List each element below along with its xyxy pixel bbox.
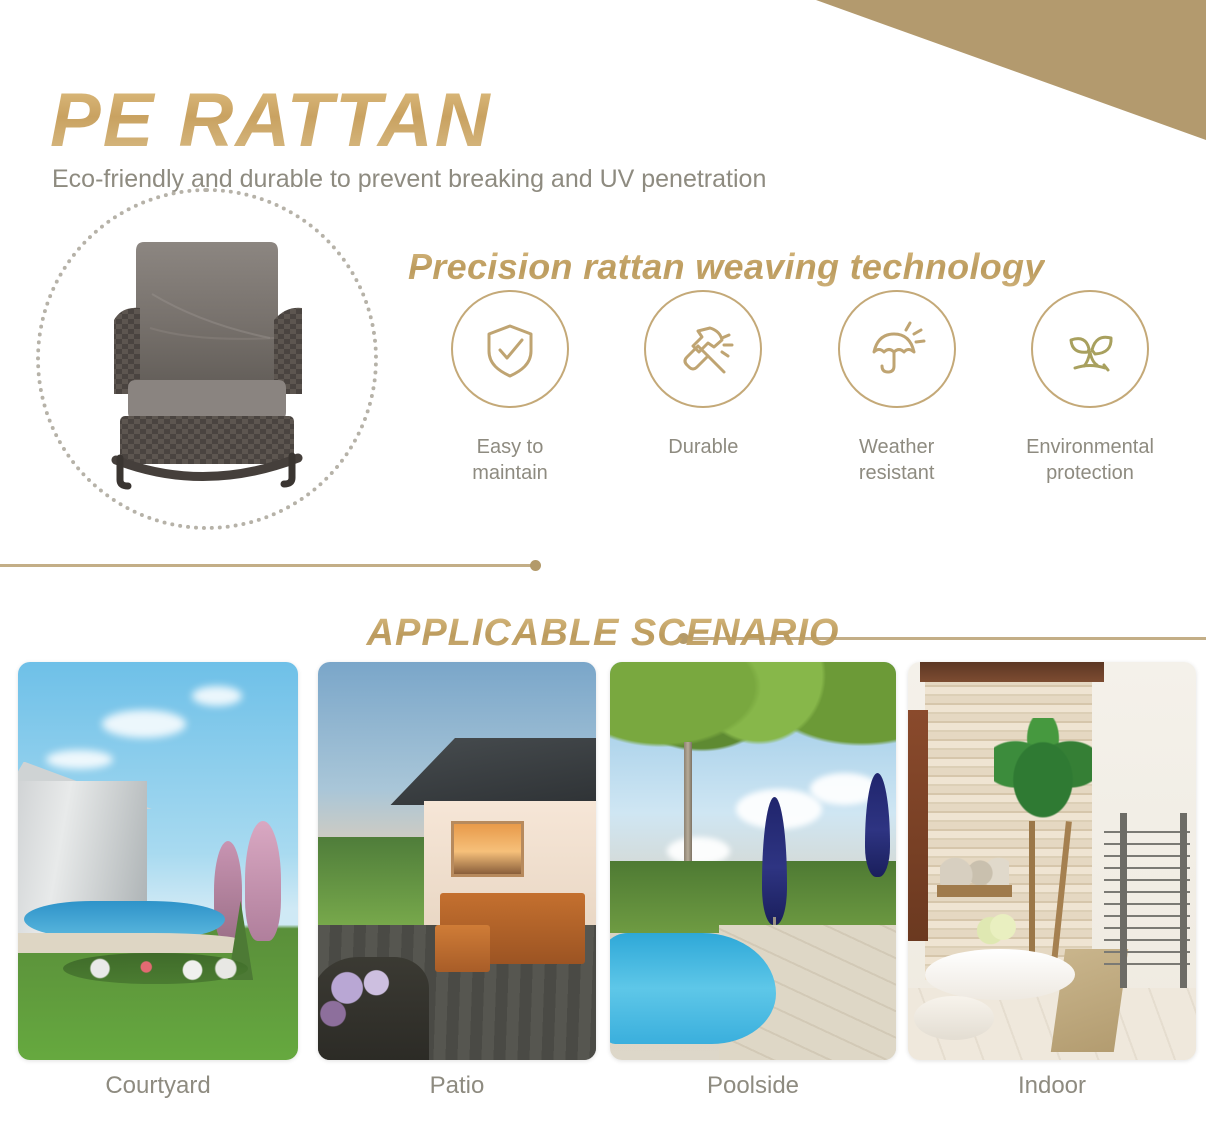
feature-label: Easy to maintain xyxy=(472,434,548,486)
feature-icon-ring xyxy=(1031,290,1149,408)
hero-section: PE RATTAN Eco-friendly and durable to pr… xyxy=(0,0,1206,560)
feature-label-line2: protection xyxy=(1046,462,1134,484)
feature-label: Weather resistant xyxy=(859,434,935,486)
caption-courtyard: Courtyard xyxy=(18,1072,298,1100)
caption-indoor: Indoor xyxy=(908,1072,1196,1100)
feature-environmental-protection: Environmental protection xyxy=(1000,290,1180,486)
feature-weather-resistant: Weather resistant xyxy=(807,290,987,486)
scenario-caption-row: Courtyard Patio Poolside Indoor xyxy=(0,1072,1206,1116)
scenario-section-title: APPLICABLE SCENARIO xyxy=(0,612,1206,655)
scenario-card-patio xyxy=(318,662,596,1060)
feature-label-line2: resistant xyxy=(859,462,935,484)
feature-durable: Durable xyxy=(613,290,793,460)
feature-easy-to-maintain: Easy to maintain xyxy=(420,290,600,486)
features-row: Easy to maintain Durable xyxy=(420,290,1180,520)
divider-dot-left xyxy=(530,560,541,571)
poolside-photo xyxy=(610,662,896,1060)
feature-label: Environmental protection xyxy=(1026,434,1154,486)
feature-icon-ring xyxy=(838,290,956,408)
page-title: PE RATTAN xyxy=(50,79,492,163)
hammer-icon xyxy=(672,318,734,380)
courtyard-photo xyxy=(18,662,298,1060)
divider-line-left xyxy=(0,564,536,567)
features-heading: Precision rattan weaving technology xyxy=(408,246,1045,288)
indoor-photo xyxy=(908,662,1196,1060)
scenario-card-indoor xyxy=(908,662,1196,1060)
scenario-card-poolside xyxy=(610,662,896,1060)
feature-label-line2: maintain xyxy=(472,462,548,484)
feature-icon-ring xyxy=(451,290,569,408)
feature-label-line1: Durable xyxy=(668,436,738,458)
shield-check-icon xyxy=(479,318,541,380)
umbrella-sun-icon xyxy=(866,318,928,380)
page-subtitle: Eco-friendly and durable to prevent brea… xyxy=(52,165,766,194)
feature-label: Durable xyxy=(668,434,738,460)
sprout-leaf-icon xyxy=(1059,318,1121,380)
caption-patio: Patio xyxy=(318,1072,596,1100)
product-image-circle xyxy=(36,188,378,530)
rattan-rocking-chair-illustration xyxy=(92,224,322,494)
scenario-card-courtyard xyxy=(18,662,298,1060)
caption-poolside: Poolside xyxy=(610,1072,896,1100)
feature-label-line1: Weather xyxy=(859,436,934,458)
feature-label-line1: Easy to xyxy=(477,436,544,458)
patio-photo xyxy=(318,662,596,1060)
feature-label-line1: Environmental xyxy=(1026,436,1154,458)
scenario-card-row xyxy=(0,662,1206,1062)
feature-icon-ring xyxy=(644,290,762,408)
